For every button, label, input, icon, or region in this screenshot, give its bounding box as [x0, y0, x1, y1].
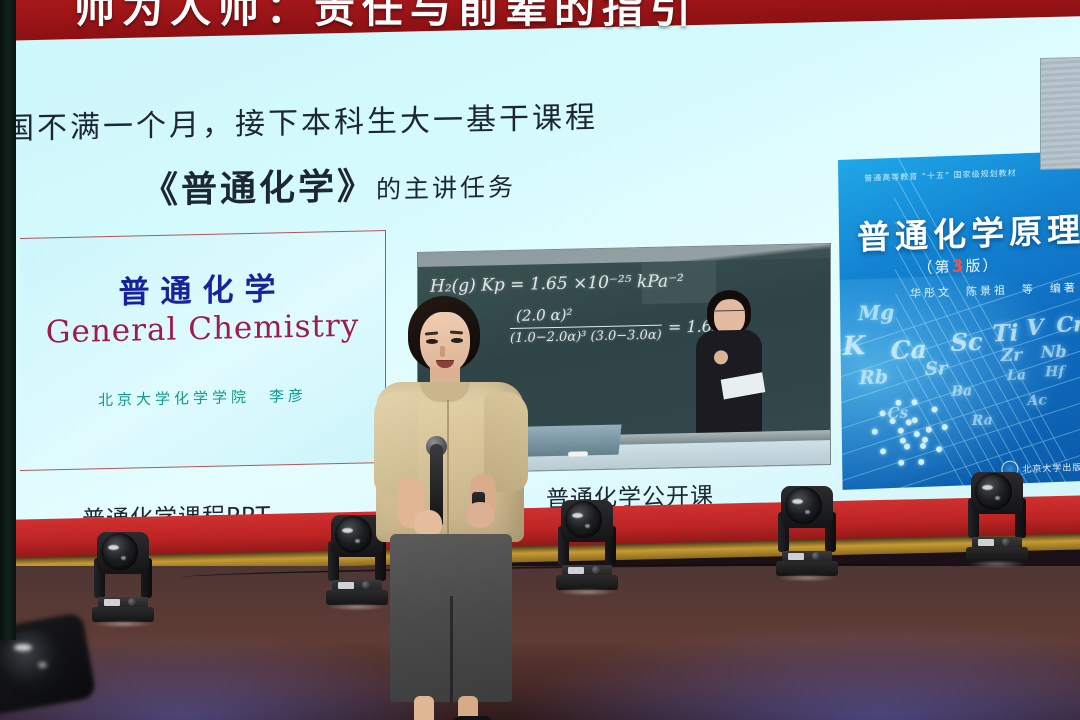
- stage-curtain-left: [0, 0, 16, 640]
- ppt-cover-byline: 北京大学化学学院 李彦: [20, 383, 385, 412]
- presenter-trouser-seam: [450, 596, 453, 702]
- element-symbol-zr: Zr: [1001, 345, 1023, 366]
- fullerene-node: [920, 443, 926, 449]
- fullerene-molecule-icon: [869, 396, 956, 477]
- fullerene-node: [906, 419, 912, 425]
- light-lens: [975, 473, 1012, 510]
- fullerene-node: [898, 428, 904, 434]
- light-knob-icon: [592, 566, 600, 574]
- light-fixture-5: [962, 470, 1032, 562]
- fullerene-node: [911, 399, 917, 405]
- fullerene-node: [914, 431, 920, 437]
- light-floor-gleam: [778, 574, 836, 582]
- light-fixture-4: [772, 484, 842, 576]
- fullerene-node: [890, 418, 896, 424]
- presenter-hand-right: [466, 502, 494, 528]
- slide-title-text: 师为人师：责任与前辈的指引: [74, 0, 1074, 34]
- light-floor-gleam: [968, 560, 1026, 568]
- chalk-stick: [568, 451, 588, 456]
- light-lens-highlight-2: [121, 556, 126, 560]
- fullerene-node: [931, 406, 937, 412]
- light-display-icon: [788, 553, 804, 560]
- light-lens-highlight: [572, 513, 583, 518]
- element-symbol-nb: Nb: [1041, 342, 1067, 362]
- light-lens-highlight-2: [585, 524, 590, 528]
- presenter-eye-right: [451, 338, 463, 343]
- light-display-icon: [568, 567, 584, 574]
- light-lens-highlight-2: [995, 496, 1000, 500]
- element-symbol-cr: Cr: [1056, 311, 1080, 337]
- textbook-edition: （第3版）: [917, 254, 999, 278]
- textbook-cover-photo: KCaScTiVCrMgRbSrZrNbCsBaLaHfRaAc 普通高等教育 …: [838, 151, 1080, 490]
- fullerene-node: [898, 460, 904, 466]
- element-symbol-ra: Ra: [972, 412, 993, 429]
- element-symbol-ti: Ti: [992, 319, 1018, 347]
- presenter-shin-left: [414, 696, 434, 720]
- light-display-icon: [978, 539, 994, 546]
- slide-book-title: 《普通化学》: [142, 165, 376, 211]
- light-lens-highlight: [792, 499, 803, 504]
- fullerene-node: [918, 459, 924, 465]
- light-lens: [565, 501, 602, 538]
- element-symbol-sr: Sr: [925, 358, 948, 380]
- element-symbol-la: La: [1007, 367, 1026, 384]
- textbook-banner: 普通高等教育 “十五” 国家级规划教材: [864, 167, 1017, 184]
- edition-prefix: （第: [917, 258, 951, 277]
- element-symbol-ac: Ac: [1027, 392, 1047, 409]
- light-fixture-3: [552, 498, 622, 590]
- element-symbol-sc: Sc: [950, 327, 982, 357]
- light-display-icon: [338, 582, 354, 589]
- light-lens-highlight: [982, 485, 993, 490]
- glasses-icon: [715, 310, 744, 318]
- ppt-cover-card: 普通化学 General Chemistry 北京大学化学学院 李彦: [20, 230, 386, 471]
- light-knob-icon: [1002, 538, 1010, 546]
- element-symbol-ca: Ca: [890, 335, 927, 365]
- ppt-cover-en-title: General Chemistry: [20, 307, 385, 351]
- textbook-title: 普通化学原理: [857, 203, 1080, 259]
- fullerene-node: [880, 448, 886, 454]
- light-lens: [101, 533, 138, 570]
- fullerene-node: [880, 410, 886, 416]
- projection-screen: 师为人师：责任与前辈的指引 国不满一个月，接下本科生大一基干课程 《普通化学》的…: [14, 0, 1080, 536]
- element-symbol-rb: Rb: [859, 366, 888, 389]
- edition-number: 3: [951, 256, 965, 276]
- ppt-cover-cn-title: 普通化学: [20, 261, 385, 314]
- presenter-button-placket: [447, 400, 449, 542]
- element-symbol-k: K: [842, 331, 865, 362]
- stage-scene: 师为人师：责任与前辈的指引 国不满一个月，接下本科生大一基干课程 《普通化学》的…: [0, 0, 1080, 720]
- fullerene-node: [942, 424, 948, 430]
- presenter: [362, 296, 538, 720]
- edition-suffix: 版）: [965, 256, 999, 275]
- element-symbol-hf: Hf: [1045, 364, 1064, 381]
- fullerene-node: [922, 437, 928, 443]
- presenter-nose: [440, 346, 445, 357]
- light-lens-highlight: [342, 528, 353, 533]
- foreground-light-fixture: [0, 604, 130, 720]
- light-lens-highlight-2: [805, 510, 810, 514]
- foreground-light-lens: [0, 630, 68, 700]
- fullerene-node: [904, 443, 910, 449]
- secondary-photo-thumbnail: [1040, 57, 1080, 170]
- fullerene-node: [926, 427, 932, 433]
- fullerene-node: [872, 429, 878, 435]
- fullerene-node: [912, 417, 918, 423]
- fullerene-node: [936, 446, 942, 452]
- floor-reflection: [0, 566, 1080, 666]
- foreground-light-highlight: [14, 644, 32, 651]
- light-lens: [785, 487, 822, 524]
- light-floor-gleam: [558, 588, 616, 596]
- presenter-eye-left: [426, 339, 438, 344]
- fullerene-node: [895, 400, 901, 406]
- light-lens-highlight: [108, 545, 119, 550]
- presenter-shoe-right: [452, 716, 492, 720]
- slide-body-line-2-tail: 的主讲任务: [376, 172, 516, 204]
- element-symbol-v: V: [1026, 314, 1043, 341]
- light-knob-icon: [812, 552, 820, 560]
- photo-teacher-figure: [688, 289, 770, 435]
- element-symbol-mg: Mg: [858, 300, 894, 325]
- light-lens-highlight-2: [355, 539, 360, 543]
- foreground-light-highlight-2: [38, 662, 47, 668]
- slide-body-line-2: 《普通化学》的主讲任务: [142, 154, 516, 213]
